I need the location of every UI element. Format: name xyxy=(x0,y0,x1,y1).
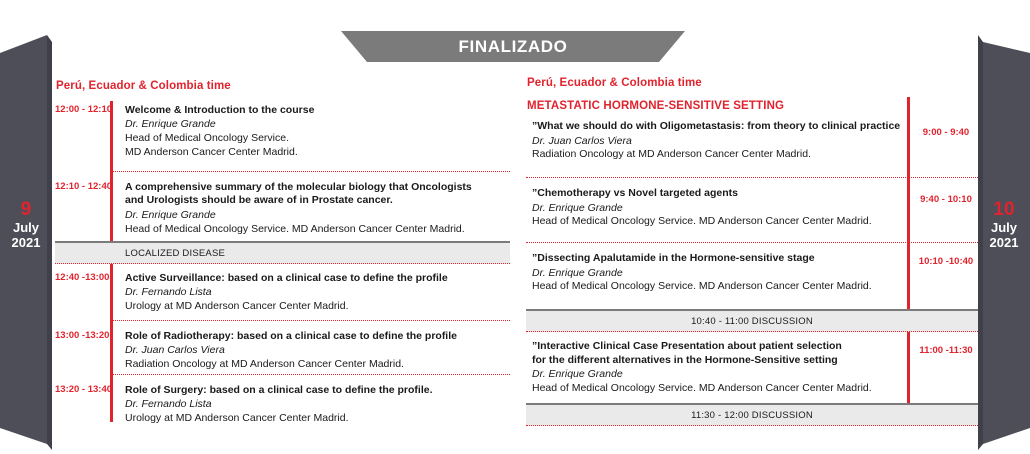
session-affiliation: Urology at MD Anderson Cancer Center Mad… xyxy=(125,300,510,314)
session-affiliation: Head of Medical Oncology Service. MD And… xyxy=(125,223,510,237)
date-tab-day1: 9 July 2021 xyxy=(0,0,52,450)
session-speaker: Dr. Juan Carlos Viera xyxy=(532,135,904,149)
session-title: Role of Radiotherapy: based on a clinica… xyxy=(125,330,510,343)
session-time: 12:00 - 12:10 xyxy=(55,104,119,115)
session-title: A comprehensive summary of the molecular… xyxy=(125,181,510,194)
agenda-page: 9 July 2021 10 July 2021 FINALIZADO Perú… xyxy=(0,0,1030,450)
session-title: Role of Surgery: based on a clinical cas… xyxy=(125,384,510,397)
discussion-band-2: 11:30 - 12:00 DISCUSSION xyxy=(526,403,978,426)
session-affiliation: Head of Medical Oncology Service. MD And… xyxy=(532,215,904,229)
session-body: A comprehensive summary of the molecular… xyxy=(125,181,510,236)
day2-section-header: METASTATIC HORMONE-SENSITIVE SETTING xyxy=(527,100,784,112)
session-speaker: Dr. Fernando Lista xyxy=(125,286,510,300)
discussion-band-divider xyxy=(526,425,978,426)
session-affiliation: Head of Medical Oncology Service. MD And… xyxy=(532,280,904,294)
session-title: Welcome & Introduction to the course xyxy=(125,104,510,117)
session-body: ”Chemotherapy vs Novel targeted agents D… xyxy=(532,187,904,229)
session-divider xyxy=(526,177,978,178)
session-divider xyxy=(526,242,978,243)
session-affiliation: Radiation Oncology at MD Anderson Cancer… xyxy=(125,358,510,372)
session-speaker: Dr. Fernando Lista xyxy=(125,398,510,412)
session-time: 13:00 -13:20 xyxy=(55,330,119,341)
date-tab-month: July xyxy=(13,221,39,235)
session-speaker: Dr. Enrique Grande xyxy=(125,209,510,223)
session-body: Role of Radiotherapy: based on a clinica… xyxy=(125,330,510,372)
section-band-divider xyxy=(55,263,510,264)
discussion-band-divider xyxy=(526,331,978,332)
session-speaker: Dr. Enrique Grande xyxy=(532,368,904,382)
session-affiliation-2: MD Anderson Cancer Center Madrid. xyxy=(125,146,510,160)
day2-rail-upper xyxy=(907,97,910,309)
discussion-band-1: 10:40 - 11:00 DISCUSSION xyxy=(526,309,978,332)
day1-timezone-header: Perú, Ecuador & Colombia time xyxy=(56,80,231,92)
session-body: Role of Surgery: based on a clinical cas… xyxy=(125,384,510,426)
session-body: ”What we should do with Oligometastasis:… xyxy=(532,120,904,162)
session-divider xyxy=(110,171,510,172)
session-title: ”What we should do with Oligometastasis:… xyxy=(532,120,904,134)
session-title-2: and Urologists should be aware of in Pro… xyxy=(125,194,510,207)
session-affiliation: Head of Medical Oncology Service. MD And… xyxy=(532,382,904,396)
date-tab-day-number: 9 xyxy=(21,200,32,221)
date-tab-day2: 10 July 2021 xyxy=(978,0,1030,450)
session-body: Active Surveillance: based on a clinical… xyxy=(125,272,510,314)
session-title: ”Interactive Clinical Case Presentation … xyxy=(532,340,904,354)
session-time: 12:10 - 12:40 xyxy=(55,181,119,192)
status-banner-label: FINALIZADO xyxy=(341,31,685,62)
session-speaker: Dr. Juan Carlos Viera xyxy=(125,344,510,358)
date-tab-month: July xyxy=(991,221,1017,235)
section-band-localized-disease: LOCALIZED DISEASE xyxy=(55,241,510,264)
session-title-2: for the different alternatives in the Ho… xyxy=(532,354,904,368)
session-body: ”Interactive Clinical Case Presentation … xyxy=(532,340,904,396)
session-title: ”Chemotherapy vs Novel targeted agents xyxy=(532,187,904,201)
session-body: Welcome & Introduction to the course Dr.… xyxy=(125,104,510,159)
discussion-band-label: 11:30 - 12:00 DISCUSSION xyxy=(572,410,932,421)
discussion-band-label: 10:40 - 11:00 DISCUSSION xyxy=(572,316,932,327)
day2-timezone-header: Perú, Ecuador & Colombia time xyxy=(527,77,702,89)
session-divider xyxy=(110,374,510,375)
session-title: Active Surveillance: based on a clinical… xyxy=(125,272,510,285)
day2-rail-lower xyxy=(907,331,910,403)
session-time: 13:20 - 13:40 xyxy=(55,384,119,395)
session-time: 11:00 -11:30 xyxy=(914,345,978,356)
session-speaker: Dr. Enrique Grande xyxy=(532,202,904,216)
date-tab-day-number: 10 xyxy=(993,200,1015,221)
session-affiliation: Head of Medical Oncology Service. xyxy=(125,132,510,146)
session-time: 9:40 - 10:10 xyxy=(914,194,978,205)
session-divider xyxy=(110,320,510,321)
status-banner: FINALIZADO xyxy=(341,31,685,62)
session-time: 9:00 - 9:40 xyxy=(914,127,978,138)
session-speaker: Dr. Enrique Grande xyxy=(125,118,510,132)
date-tab-year: 2021 xyxy=(990,236,1019,250)
section-band-label: LOCALIZED DISEASE xyxy=(125,248,225,259)
session-body: ”Dissecting Apalutamide in the Hormone-s… xyxy=(532,252,904,294)
session-affiliation: Urology at MD Anderson Cancer Center Mad… xyxy=(125,412,510,426)
session-speaker: Dr. Enrique Grande xyxy=(532,267,904,281)
session-title: ”Dissecting Apalutamide in the Hormone-s… xyxy=(532,252,904,266)
session-affiliation: Radiation Oncology at MD Anderson Cancer… xyxy=(532,148,904,162)
session-time: 12:40 -13:00 xyxy=(55,272,119,283)
session-time: 10:10 -10:40 xyxy=(914,256,978,267)
date-tab-year: 2021 xyxy=(12,236,41,250)
